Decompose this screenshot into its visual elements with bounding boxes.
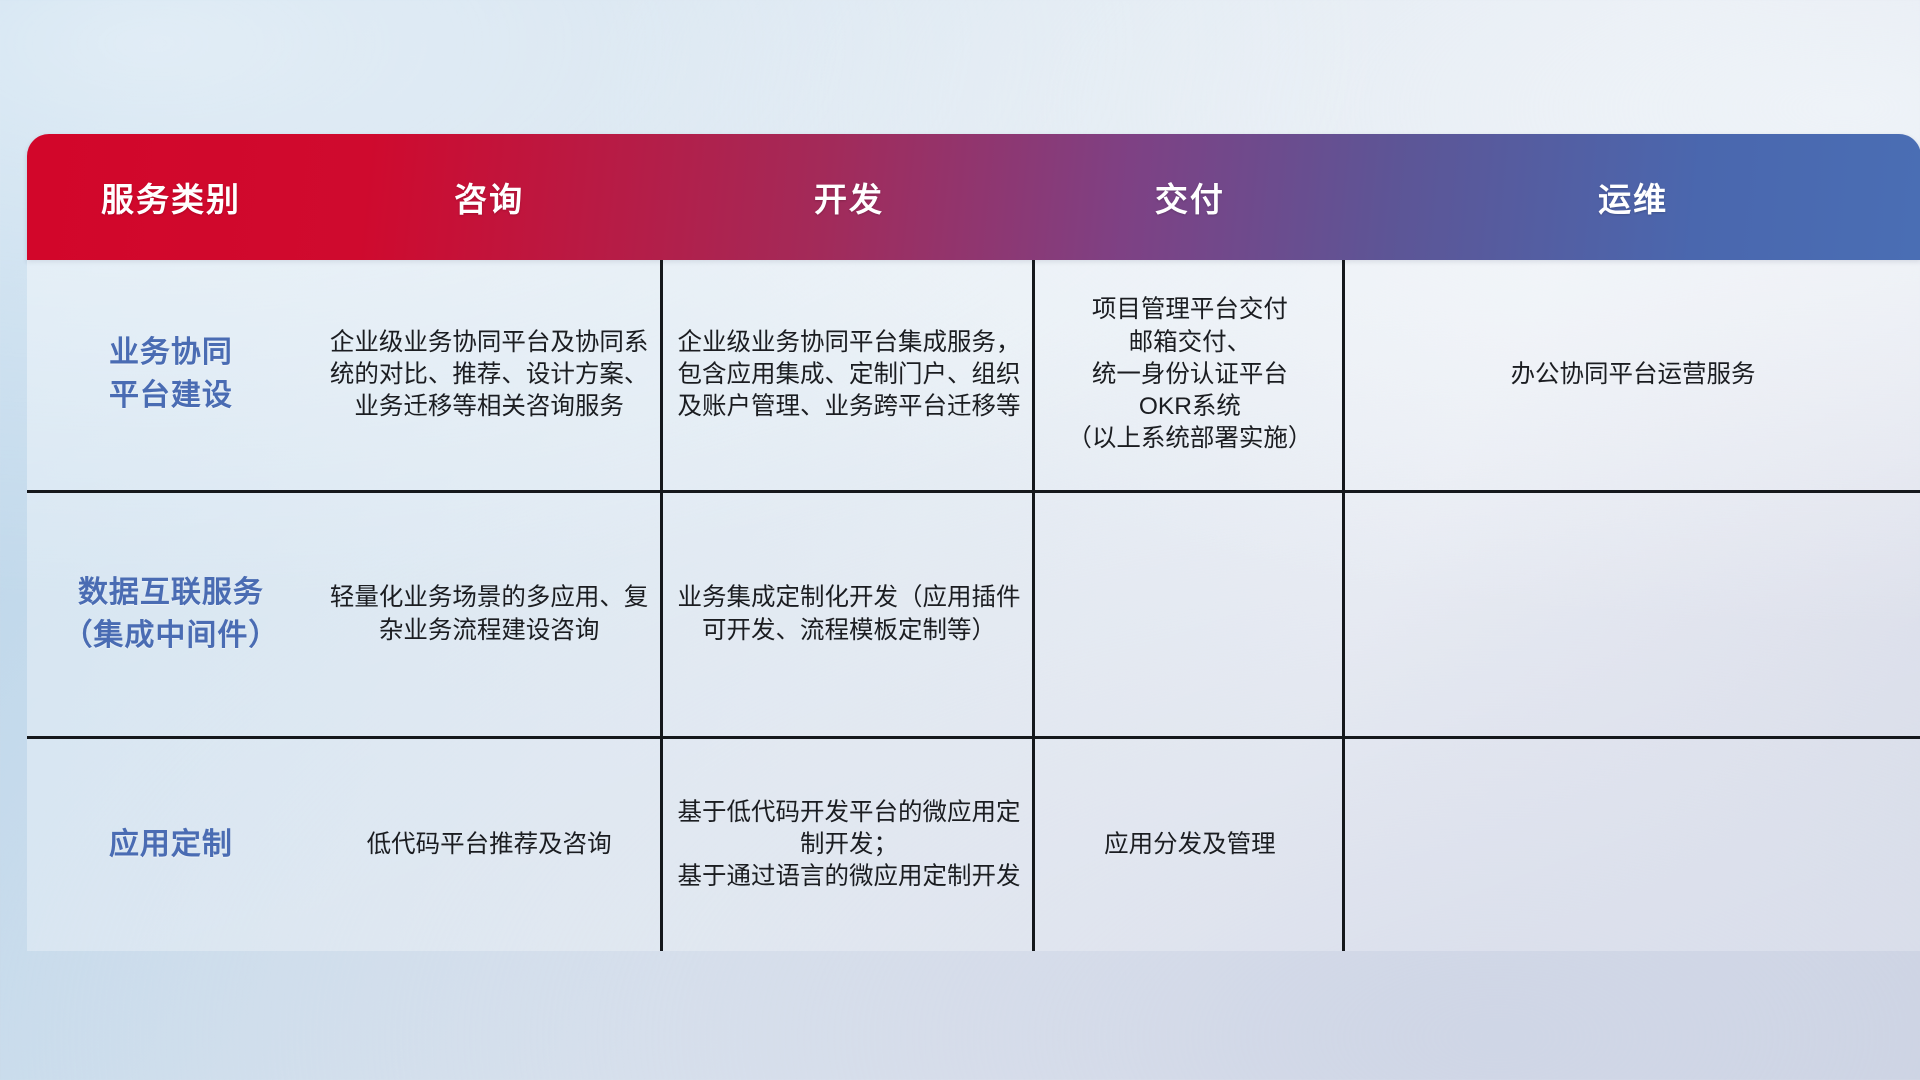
column-header-operations: 运维 (1345, 173, 1920, 221)
cell-consulting: 轻量化业务场景的多应用、复 杂业务流程建设咨询 (315, 493, 663, 736)
row-category-label: 数据互联服务 （集成中间件） (27, 493, 315, 736)
table-row: 业务协同 平台建设 企业级业务协同平台及协同系 统的对比、推荐、设计方案、 业务… (27, 260, 1920, 490)
slide-canvas: 服务类别 咨询 开发 交付 运维 业务协同 平台建设 企业级业务协同平台及协同系… (0, 0, 1920, 1080)
table-row: 应用定制 低代码平台推荐及咨询 基于低代码开发平台的微应用定 制开发； 基于通过… (27, 736, 1920, 951)
table-header-row: 服务类别 咨询 开发 交付 运维 (27, 134, 1920, 260)
table-body: 业务协同 平台建设 企业级业务协同平台及协同系 统的对比、推荐、设计方案、 业务… (27, 260, 1920, 951)
table-row: 数据互联服务 （集成中间件） 轻量化业务场景的多应用、复 杂业务流程建设咨询 业… (27, 490, 1920, 736)
cell-operations (1345, 739, 1920, 951)
cell-operations: 办公协同平台运营服务 (1345, 260, 1920, 490)
row-category-label: 应用定制 (27, 739, 315, 951)
cell-development: 基于低代码开发平台的微应用定 制开发； 基于通过语言的微应用定制开发 (663, 739, 1034, 951)
column-header-development: 开发 (663, 173, 1034, 221)
column-header-category: 服务类别 (27, 173, 315, 221)
cell-delivery (1035, 493, 1346, 736)
row-category-label: 业务协同 平台建设 (27, 260, 315, 490)
column-header-delivery: 交付 (1035, 173, 1346, 221)
cell-consulting: 企业级业务协同平台及协同系 统的对比、推荐、设计方案、 业务迁移等相关咨询服务 (315, 260, 663, 490)
cell-delivery: 项目管理平台交付 邮箱交付、 统一身份认证平台 OKR系统 （以上系统部署实施） (1035, 260, 1346, 490)
service-matrix-table: 服务类别 咨询 开发 交付 运维 业务协同 平台建设 企业级业务协同平台及协同系… (27, 134, 1920, 954)
cell-delivery: 应用分发及管理 (1035, 739, 1346, 951)
cell-operations (1345, 493, 1920, 736)
cell-consulting: 低代码平台推荐及咨询 (315, 739, 663, 951)
cell-development: 业务集成定制化开发（应用插件 可开发、流程模板定制等） (663, 493, 1034, 736)
cell-development: 企业级业务协同平台集成服务， 包含应用集成、定制门户、组织 及账户管理、业务跨平… (663, 260, 1034, 490)
column-header-consulting: 咨询 (315, 173, 663, 221)
